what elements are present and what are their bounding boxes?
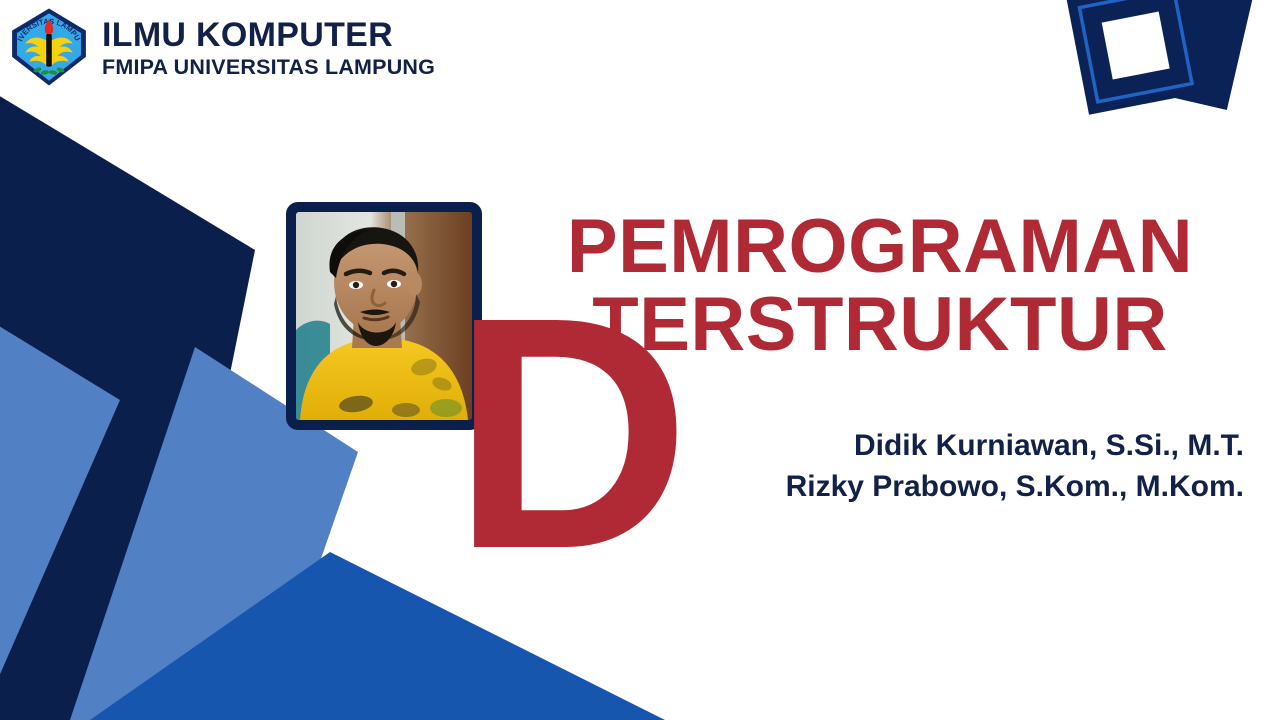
logo-torch-handle (46, 34, 52, 67)
header-title: ILMU KOMPUTER (102, 18, 435, 52)
page-title: PEMROGRAMAN TERSTRUKTUR (520, 210, 1240, 361)
mid-blue-angled-shape (0, 290, 120, 720)
rotated-squares-svg (1060, 0, 1280, 135)
author-list: Didik Kurniawan, S.Si., M.T. Rizky Prabo… (560, 425, 1260, 508)
title-line-1: PEMROGRAMAN (520, 210, 1240, 284)
lecturer-portrait (296, 212, 472, 420)
author-name-2: Rizky Prabowo, S.Kom., M.Kom. (560, 466, 1244, 507)
title-slide: UNIVERSITAS LAMPUNG ILMU (0, 0, 1280, 720)
author-name-1: Didik Kurniawan, S.Si., M.T. (560, 425, 1244, 466)
logo-svg: UNIVERSITAS LAMPUNG (8, 6, 90, 88)
universitas-lampung-logo: UNIVERSITAS LAMPUNG (8, 6, 90, 88)
title-line-2: TERSTRUKTUR (520, 288, 1240, 362)
navy-angled-shape (0, 60, 255, 720)
header-subtitle: FMIPA UNIVERSITAS LAMPUNG (102, 57, 435, 79)
rotated-squares-decoration (1060, 0, 1280, 135)
header: UNIVERSITAS LAMPUNG ILMU (8, 6, 435, 88)
lecturer-portrait-image (296, 212, 472, 420)
header-text-block: ILMU KOMPUTER FMIPA UNIVERSITAS LAMPUNG (102, 16, 435, 79)
